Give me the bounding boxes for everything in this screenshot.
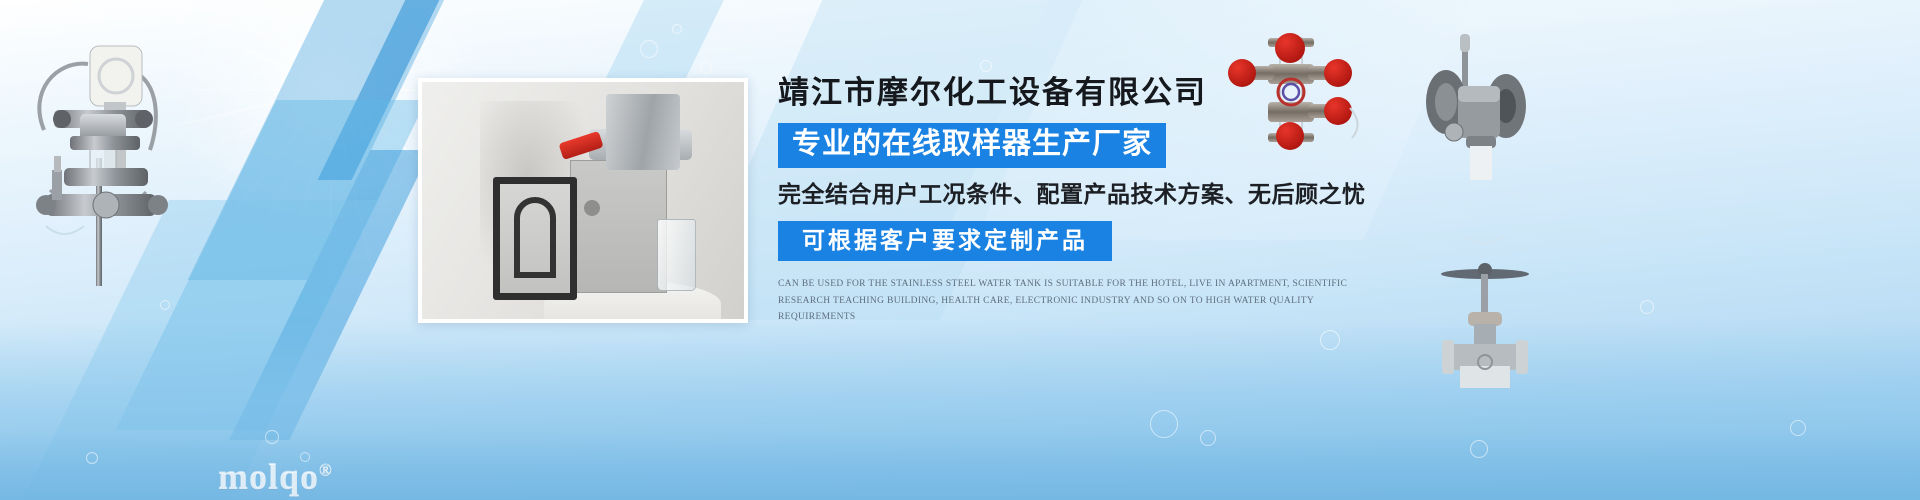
sun-ray bbox=[166, 0, 331, 91]
english-description: CAN BE USED FOR THE STAINLESS STEEL WATE… bbox=[778, 276, 1378, 326]
logo-wordmark: molqo bbox=[218, 457, 319, 497]
sun-ray bbox=[166, 89, 331, 221]
bubble bbox=[1200, 430, 1216, 446]
bubble bbox=[1320, 330, 1340, 350]
bubble bbox=[265, 430, 279, 444]
photo-door-gasket bbox=[514, 197, 556, 278]
right-bottom-product-image bbox=[1420, 230, 1550, 390]
photo-cabinet-door bbox=[493, 177, 577, 300]
callout-highlight: 可根据客户要求定制产品 bbox=[778, 221, 1112, 261]
photo-cabinet-body bbox=[570, 160, 667, 293]
subline-text: 完全结合用户工况条件、配置产品技术方案、无后顾之忧 bbox=[778, 181, 1398, 207]
bubble bbox=[700, 62, 712, 74]
center-product-photo bbox=[418, 78, 748, 323]
right-top-product-image bbox=[1210, 30, 1370, 150]
sun-ray bbox=[199, 0, 331, 91]
headline-highlight: 专业的在线取样器生产厂家 bbox=[778, 123, 1166, 168]
bubble bbox=[160, 300, 170, 310]
sun-ray bbox=[330, 0, 423, 90]
sun-ray bbox=[330, 90, 332, 300]
photo-sample-bottle bbox=[657, 219, 696, 290]
sun-ray bbox=[283, 0, 332, 90]
photo-sampler-valve bbox=[606, 94, 680, 170]
sun-ray bbox=[283, 90, 332, 295]
bubble bbox=[1150, 410, 1178, 438]
sun-ray bbox=[199, 89, 331, 254]
left-product-image bbox=[10, 18, 190, 288]
bubble bbox=[1640, 300, 1654, 314]
sun-ray bbox=[239, 90, 332, 280]
bubble bbox=[1470, 440, 1488, 458]
sun-ray bbox=[330, 90, 423, 280]
sun-ray bbox=[239, 0, 332, 90]
watermark-logo: molqo® bbox=[218, 456, 333, 498]
bubble bbox=[640, 40, 658, 58]
bubble bbox=[1790, 420, 1806, 436]
sun-ray bbox=[330, 0, 379, 90]
diagonal-ribbon-4 bbox=[229, 150, 430, 440]
bubble bbox=[980, 60, 992, 72]
registered-mark: ® bbox=[319, 461, 333, 480]
promotional-banner: 靖江市摩尔化工设备有限公司 专业的在线取样器生产厂家 完全结合用户工况条件、配置… bbox=[0, 0, 1920, 500]
bubble bbox=[86, 452, 98, 464]
bubble bbox=[672, 24, 682, 34]
sun-ray bbox=[330, 90, 379, 295]
sun-ray bbox=[330, 0, 332, 90]
right-mid-product-image bbox=[1410, 30, 1540, 180]
